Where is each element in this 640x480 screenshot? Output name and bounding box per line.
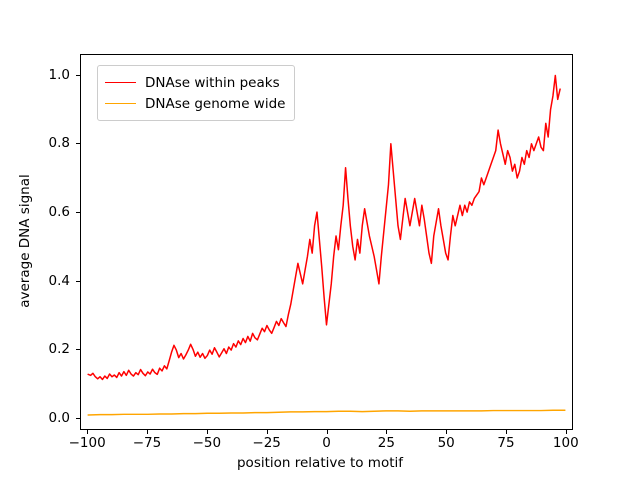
x-tick-label: 75 <box>497 435 514 451</box>
x-tick-mark <box>327 430 328 434</box>
figure-canvas: DNAse within peaks DNAse genome wide 0.0… <box>0 0 640 480</box>
series-line-dnase-within-peaks <box>88 75 560 379</box>
x-tick-mark <box>267 430 268 434</box>
legend: DNAse within peaks DNAse genome wide <box>97 65 295 121</box>
legend-item-dnase-genome-wide: DNAse genome wide <box>105 93 285 114</box>
legend-item-dnase-within-peaks: DNAse within peaks <box>105 72 285 93</box>
x-tick-label: 25 <box>378 435 395 451</box>
x-tick-mark <box>506 430 507 434</box>
legend-color-swatch-orange <box>105 103 136 104</box>
series-line-dnase-genome-wide <box>88 410 565 415</box>
x-tick-label: 100 <box>553 435 579 451</box>
y-axis-title: average DNA signal <box>17 53 33 429</box>
x-tick-mark <box>87 430 88 434</box>
x-tick-label: −25 <box>252 435 281 451</box>
plot-area: DNAse within peaks DNAse genome wide <box>80 54 573 430</box>
x-tick-label: −75 <box>133 435 162 451</box>
x-tick-mark <box>386 430 387 434</box>
x-tick-mark <box>147 430 148 434</box>
x-tick-mark <box>207 430 208 434</box>
x-tick-label: −100 <box>69 435 106 451</box>
x-tick-label: −50 <box>193 435 222 451</box>
x-tick-label: 0 <box>322 435 331 451</box>
legend-label-dnase-genome-wide: DNAse genome wide <box>145 96 285 112</box>
x-axis-title: position relative to motif <box>0 455 640 471</box>
legend-label-dnase-within-peaks: DNAse within peaks <box>145 75 280 91</box>
x-tick-mark <box>566 430 567 434</box>
legend-color-swatch-red <box>105 82 136 83</box>
x-tick-mark <box>446 430 447 434</box>
x-tick-label: 50 <box>438 435 455 451</box>
